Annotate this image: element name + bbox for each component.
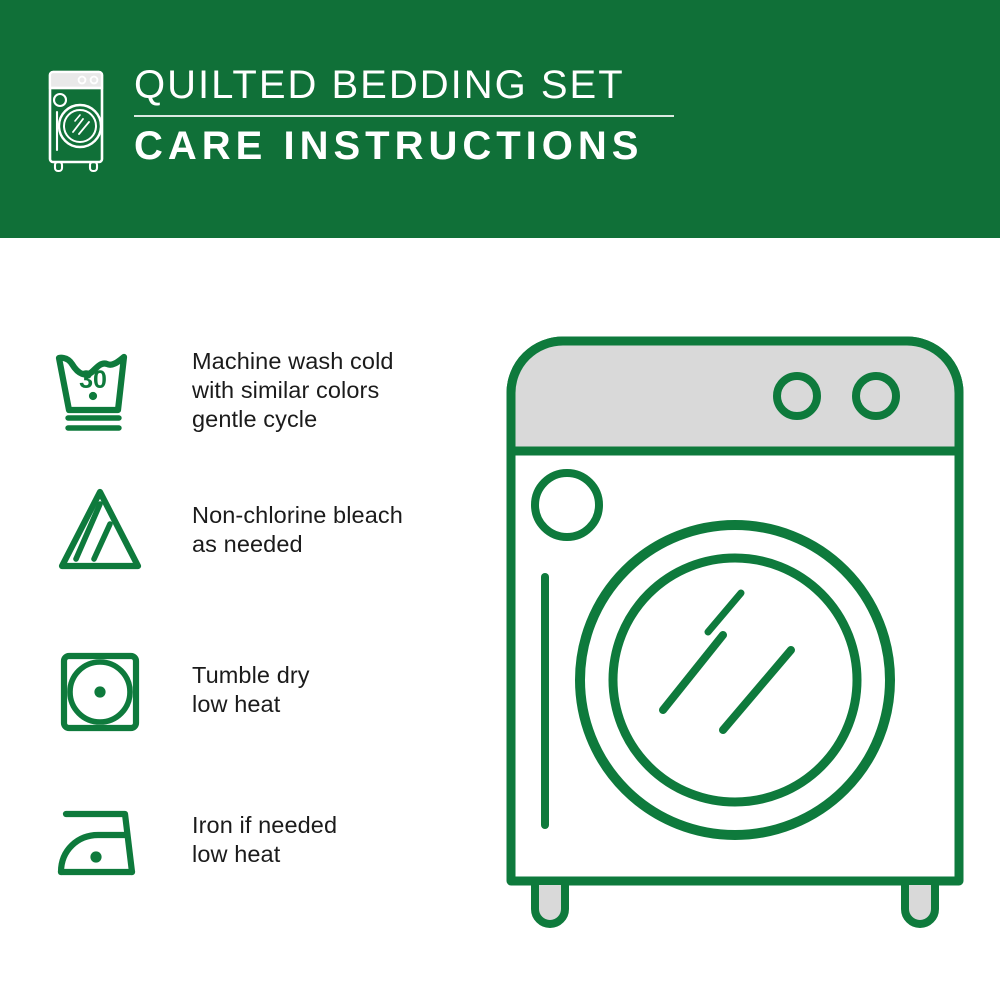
care-row: Tumble dry low heat: [48, 638, 488, 742]
care-instruction-list: 30 Machine wash cold with similar colors…: [0, 238, 500, 1000]
header-content: QUILTED BEDDING SET CARE INSTRUCTIONS: [44, 62, 674, 174]
care-row-label: Non-chlorine bleach as needed: [192, 501, 403, 559]
wash-temperature-label: 30: [79, 366, 107, 394]
page-title: QUILTED BEDDING SET: [134, 62, 674, 108]
wash-tub-30-icon: 30: [48, 338, 152, 442]
page-subtitle: CARE INSTRUCTIONS: [134, 123, 674, 169]
iron-icon: [48, 788, 152, 892]
washing-machine-icon: [44, 64, 108, 174]
header-banner: QUILTED BEDDING SET CARE INSTRUCTIONS: [0, 0, 1000, 238]
machine-leg: [905, 881, 935, 924]
care-instructions-infographic: QUILTED BEDDING SET CARE INSTRUCTIONS 30…: [0, 0, 1000, 1000]
care-row-label: Machine wash cold with similar colors ge…: [192, 347, 394, 434]
machine-leg: [535, 881, 565, 924]
washing-machine-illustration: [495, 325, 975, 945]
bleach-triangle-icon: [48, 478, 152, 582]
care-row: Iron if needed low heat: [48, 788, 488, 892]
care-row-label: Tumble dry low heat: [192, 661, 310, 719]
care-row: 30 Machine wash cold with similar colors…: [48, 338, 488, 442]
title-divider: [134, 115, 674, 117]
control-panel: [511, 341, 959, 451]
tumble-dry-icon: [48, 638, 152, 742]
care-row: Non-chlorine bleach as needed: [48, 478, 488, 582]
header-title-group: QUILTED BEDDING SET CARE INSTRUCTIONS: [134, 62, 674, 169]
care-row-label: Iron if needed low heat: [192, 811, 337, 869]
